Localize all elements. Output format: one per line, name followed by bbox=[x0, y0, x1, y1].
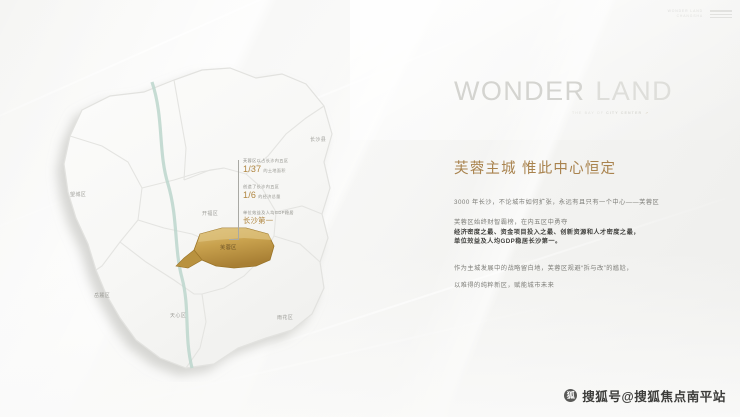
sohu-fox-icon: 狐 bbox=[564, 389, 577, 402]
callout-leader-foot bbox=[229, 239, 239, 240]
body-paragraph-1: 3000 年长沙，不论城市如何扩张，永远有且只有一个中心——芙蓉区 bbox=[454, 198, 726, 208]
content-column: WONDER LAND THE BAY OF CITY CENTER↗ 芙蓉主城… bbox=[454, 78, 726, 290]
map-label-yuhua: 雨花区 bbox=[277, 314, 293, 321]
body-paragraph-4-strong: 单位效益及人均GDP稳居长沙第一。 bbox=[454, 237, 726, 247]
wonderland-title: WONDER LAND bbox=[454, 78, 726, 105]
callout-unit: 的土地面积 bbox=[263, 168, 285, 173]
brand-logo-mark-icon bbox=[710, 10, 732, 18]
title-word-land: LAND bbox=[595, 78, 673, 105]
map-label-kaifu: 开福区 bbox=[202, 210, 218, 217]
body-copy: 3000 年长沙，不论城市如何扩张，永远有且只有一个中心——芙蓉区 芙蓉区始终财… bbox=[454, 198, 726, 291]
body-paragraph-2: 芙蓉区始终财智霸榜，在内五区中勇夺 bbox=[454, 218, 726, 228]
title-word-wonder: WONDER bbox=[454, 78, 585, 105]
brand-logo: WONDER LAND CHANGSHA bbox=[668, 10, 732, 19]
map-label-furong: 芙蓉区 bbox=[220, 244, 237, 251]
page-headline: 芙蓉主城 惟此中心恒定 bbox=[454, 162, 726, 177]
callout-number: 长沙第一 bbox=[243, 216, 273, 225]
callout-caption: 创造了长沙内五区 bbox=[243, 184, 353, 189]
body-paragraph-3-strong: 经济密度之最、资金项目投入之最、创新资源和人才密度之最， bbox=[454, 228, 726, 238]
map-label-yuelu: 岳麓区 bbox=[94, 292, 110, 299]
callout-item: 创造了长沙内五区 1/6的经济总量 bbox=[243, 184, 353, 200]
callout-number: 1/6 bbox=[243, 190, 256, 200]
slide-canvas: WONDER LAND CHANGSHA bbox=[0, 0, 740, 417]
callout-item: 芙蓉区以占长沙内五区 1/37的土地面积 bbox=[243, 158, 353, 174]
callout-leader-line bbox=[238, 160, 239, 240]
body-paragraph-6: 以难得的纯粹新区，赋能城市未来 bbox=[454, 281, 726, 291]
callout-number: 1/37 bbox=[243, 164, 261, 174]
callout-value: 1/37的土地面积 bbox=[243, 165, 353, 174]
map-callout-list: 芙蓉区以占长沙内五区 1/37的土地面积 创造了长沙内五区 1/6的经济总量 单… bbox=[243, 158, 353, 234]
callout-item: 单位效益及人均GDP稳居 长沙第一 bbox=[243, 210, 353, 225]
sohu-watermark: 狐 搜狐号@搜狐焦点南平站 bbox=[564, 386, 726, 405]
subtitle-prefix: THE BAY OF bbox=[572, 111, 606, 115]
callout-value: 1/6的经济总量 bbox=[243, 191, 353, 200]
callout-value: 长沙第一 bbox=[243, 217, 353, 224]
wonderland-subtitle: THE BAY OF CITY CENTER↗ bbox=[572, 111, 726, 115]
map-label-wangcheng: 望城区 bbox=[70, 191, 86, 198]
map-label-tianxin: 天心区 bbox=[170, 312, 186, 319]
callout-caption: 单位效益及人均GDP稳居 bbox=[243, 210, 353, 215]
callout-unit: 的经济总量 bbox=[258, 194, 280, 199]
map-label-changshaxian: 长沙县 bbox=[310, 136, 326, 143]
subtitle-emphasis: CITY CENTER bbox=[606, 111, 642, 115]
brand-logo-line1: WONDER LAND bbox=[668, 10, 703, 13]
brand-logo-line2: CHANGSHA bbox=[677, 15, 703, 18]
watermark-text: 搜狐号@搜狐焦点南平站 bbox=[582, 386, 726, 405]
body-paragraph-5: 作为主城发展中的战略留白地，芙蓉区规避“拆与改”的尴尬， bbox=[454, 264, 726, 274]
sohu-badge-glyph: 狐 bbox=[567, 392, 575, 400]
callout-caption: 芙蓉区以占长沙内五区 bbox=[243, 158, 353, 163]
arrow-up-right-icon: ↗ bbox=[645, 111, 649, 115]
